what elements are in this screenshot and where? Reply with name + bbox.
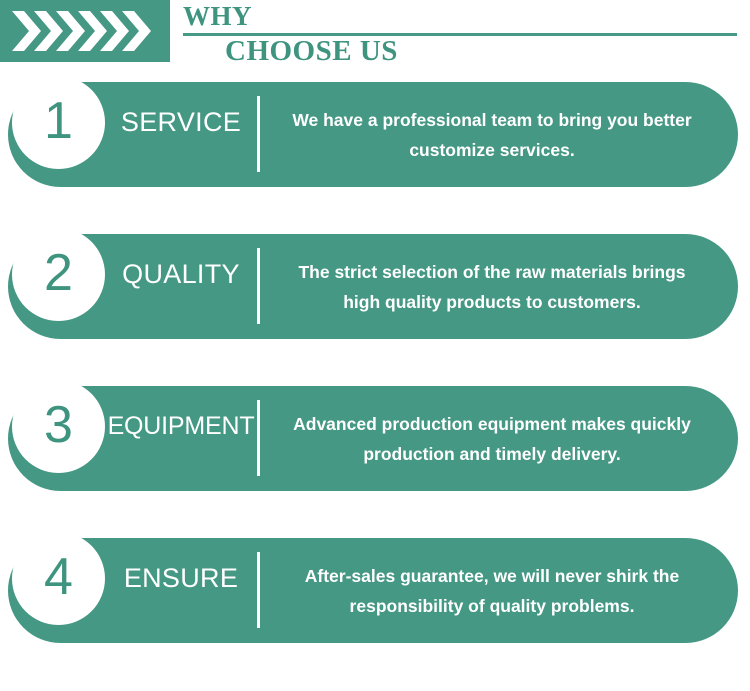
- feature-label: EQUIPMENT: [105, 380, 257, 473]
- description-line-2: high quality products to customers.: [343, 287, 641, 317]
- feature-row-ensure: 4 ENSURE After-sales guarantee, we will …: [0, 526, 750, 678]
- vertical-divider: [257, 400, 260, 476]
- title-line-choose-us: CHOOSE US: [225, 34, 398, 68]
- feature-description: After-sales guarantee, we will never shi…: [272, 538, 712, 643]
- feature-row-service: 1 SERVICE We have a professional team to…: [0, 70, 750, 222]
- number-badge-value: 3: [44, 399, 73, 451]
- feature-label: SERVICE: [105, 76, 257, 169]
- description-line-2: production and timely delivery.: [363, 439, 620, 469]
- header: WHY CHOOSE US: [0, 0, 750, 70]
- description-line-1: Advanced production equipment makes quic…: [293, 409, 691, 439]
- number-badge-value: 4: [44, 551, 73, 603]
- feature-label: QUALITY: [105, 228, 257, 321]
- number-badge-value: 2: [44, 247, 73, 299]
- description-line-1: After-sales guarantee, we will never shi…: [305, 561, 679, 591]
- description-line-1: We have a professional team to bring you…: [292, 105, 691, 135]
- vertical-divider: [257, 552, 260, 628]
- feature-row-quality: 2 QUALITY The strict selection of the ra…: [0, 222, 750, 374]
- number-badge: 2: [12, 228, 105, 321]
- chevron-arrows-block: [0, 0, 170, 62]
- description-line-2: customize services.: [409, 135, 574, 165]
- feature-description: We have a professional team to bring you…: [272, 82, 712, 187]
- why-choose-us-infographic: WHY CHOOSE US 1 SERVICE We have a profes…: [0, 0, 750, 691]
- number-badge: 3: [12, 380, 105, 473]
- number-badge: 4: [12, 532, 105, 625]
- number-badge: 1: [12, 76, 105, 169]
- header-title: WHY CHOOSE US: [183, 0, 737, 70]
- feature-row-equipment: 3 EQUIPMENT Advanced production equipmen…: [0, 374, 750, 526]
- description-line-1: The strict selection of the raw material…: [298, 257, 685, 287]
- feature-description: Advanced production equipment makes quic…: [272, 386, 712, 491]
- description-line-2: responsibility of quality problems.: [350, 591, 635, 621]
- number-badge-value: 1: [44, 95, 73, 147]
- feature-list: 1 SERVICE We have a professional team to…: [0, 70, 750, 678]
- title-line-why: WHY: [183, 1, 252, 31]
- vertical-divider: [257, 248, 260, 324]
- double-chevron-right-icon: [10, 8, 160, 54]
- feature-label: ENSURE: [105, 532, 257, 625]
- vertical-divider: [257, 96, 260, 172]
- feature-description: The strict selection of the raw material…: [272, 234, 712, 339]
